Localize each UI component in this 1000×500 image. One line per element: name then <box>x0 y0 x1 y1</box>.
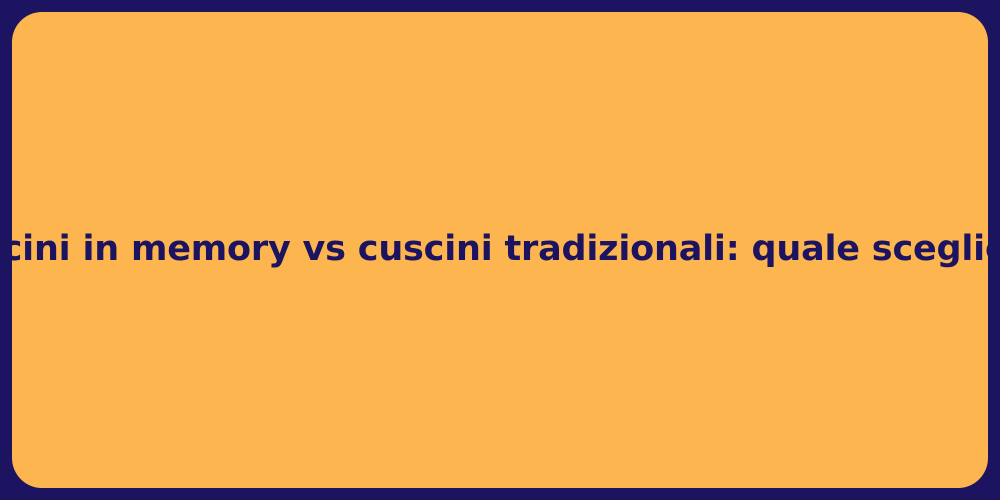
headline-text: Cuscini in memory vs cuscini tradizional… <box>12 228 988 272</box>
banner-panel: Cuscini in memory vs cuscini tradizional… <box>12 12 988 488</box>
banner-frame: Cuscini in memory vs cuscini tradizional… <box>0 0 1000 500</box>
